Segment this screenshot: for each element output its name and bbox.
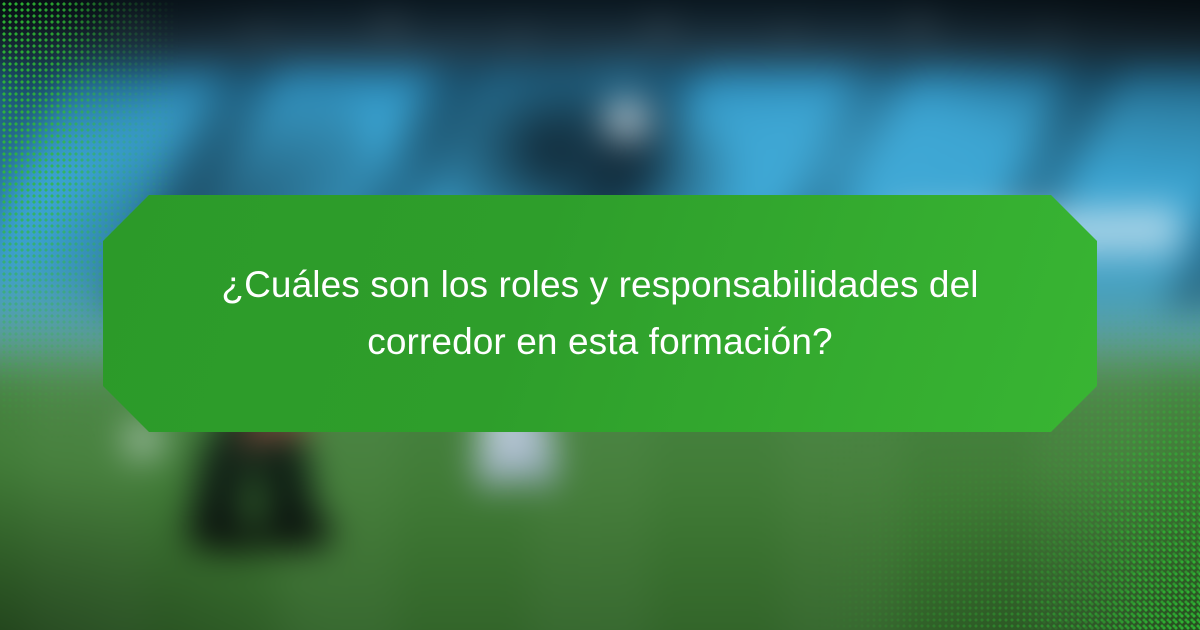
- question-banner: ¿Cuáles son los roles y responsabilidade…: [103, 195, 1097, 432]
- question-text: ¿Cuáles son los roles y responsabilidade…: [205, 257, 995, 369]
- social-card: ¿Cuáles son los roles y responsabilidade…: [0, 0, 1200, 630]
